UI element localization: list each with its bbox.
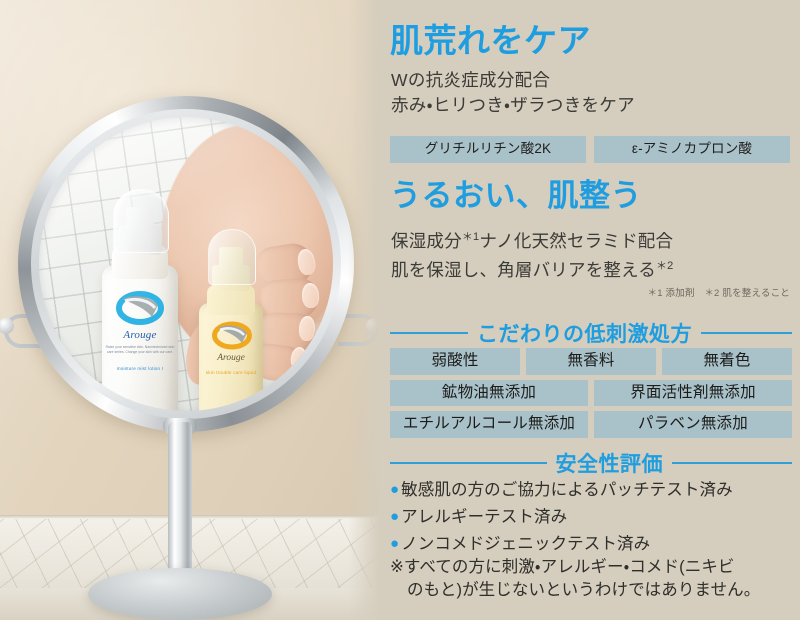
mirror-glare [39,117,333,411]
standing-mirror: Arouge Raise your sensitive skin. Nanote… [18,96,358,441]
formulation-badge: 無香料 [526,348,656,375]
divider-rule-left [390,462,547,464]
section2-footnote: ＊1 添加剤 ＊2 肌を整えること [648,285,790,299]
ingredient-chip-row: グリチルリチン酸2K ε-アミノカプロン酸 [390,136,790,163]
safety-bullet-list: ● 敏感肌の方のご協力によるパッチテスト済み ● アレルギーテスト済み ● ノン… [390,478,794,559]
divider-rule-left [390,332,468,334]
photo-edge-fade [348,0,382,620]
formulation-badge: 界面活性剤無添加 [594,380,792,407]
section1-body-line1: Wの抗炎症成分配合 [391,68,635,93]
section2-line1-pre: 保湿成分 [391,231,462,251]
divider-rule-right [701,332,792,334]
formulation-badge: エチルアルコール無添加 [390,411,588,438]
mirror-post [168,422,192,590]
section1-body-line2: 赤み・ヒリつき・ザラつきをケア [391,93,635,118]
list-item-label: 敏感肌の方のご協力によるパッチテスト済み [401,478,733,502]
section2-body-line2: 肌を保湿し、角層バリアを整える＊2 [391,254,674,283]
advertisement-page: Arouge Raise your sensitive skin. Nanote… [0,0,800,620]
section3-heading-group: こだわりの低刺激処方 [390,318,792,348]
ingredient-chip: ε-アミノカプロン酸 [594,136,790,163]
list-item: ● アレルギーテスト済み [390,505,794,529]
badge-row: エチルアルコール無添加 パラベン無添加 [390,411,792,438]
section2-line2-pre: 肌を保湿し、角層バリアを整える [391,260,656,280]
disclaimer-line1: ※すべての方に刺激・アレルギー・コメド(ニキビ [390,558,735,576]
formulation-badge: 弱酸性 [390,348,520,375]
section2-body: 保湿成分＊1ナノ化天然セラミド配合 肌を保湿し、角層バリアを整える＊2 [391,225,674,283]
section4-heading-group: 安全性評価 [390,448,792,478]
section1-heading: 肌荒れをケア [390,24,591,57]
safety-disclaimer: ※すべての方に刺激・アレルギー・コメド(ニキビ のもと)が生じないというわけでは… [390,556,790,602]
section2-line2-sup: ＊2 [656,260,674,272]
mirror-chrome-ring: Arouge Raise your sensitive skin. Nanote… [18,96,354,432]
formulation-badge: 無着色 [662,348,792,375]
ingredient-chip: グリチルリチン酸2K [390,136,586,163]
list-item: ● ノンコメドジェニックテスト済み [390,532,794,556]
mirror-base [88,568,272,620]
section3-heading: こだわりの低刺激処方 [477,318,692,348]
badge-row: 弱酸性 無香料 無着色 [390,348,792,375]
bullet-dot-icon: ● [390,532,399,556]
list-item: ● 敏感肌の方のご協力によるパッチテスト済み [390,478,794,502]
bullet-dot-icon: ● [390,505,399,529]
list-item-label: ノンコメドジェニックテスト済み [401,532,650,556]
formulation-badge: パラベン無添加 [594,411,792,438]
disclaimer-line2: のもと)が生じないというわけではありません。 [390,579,790,602]
bullet-dot-icon: ● [390,478,399,502]
info-panel: 肌荒れをケア Wの抗炎症成分配合 赤み・ヒリつき・ザラつきをケア グリチルリチン… [382,0,800,620]
section1-body: Wの抗炎症成分配合 赤み・ヒリつき・ザラつきをケア [391,68,635,118]
list-item-label: アレルギーテスト済み [401,505,567,529]
section2-heading: うるおい、肌整う [390,180,642,211]
section4-heading: 安全性評価 [556,448,664,478]
divider-rule-right [672,462,792,464]
formulation-badge: 鉱物油無添加 [390,380,588,407]
section2-body-line1: 保湿成分＊1ナノ化天然セラミド配合 [391,225,674,254]
section2-line1-sup: ＊1 [462,231,480,243]
mirror-glass: Arouge Raise your sensitive skin. Nanote… [39,117,333,411]
formulation-badge-grid: 弱酸性 無香料 無着色 鉱物油無添加 界面活性剤無添加 エチルアルコール無添加 … [390,348,792,438]
badge-row: 鉱物油無添加 界面活性剤無添加 [390,380,792,407]
section2-line1-post: ナノ化天然セラミド配合 [479,231,673,251]
product-photo: Arouge Raise your sensitive skin. Nanote… [0,0,382,620]
